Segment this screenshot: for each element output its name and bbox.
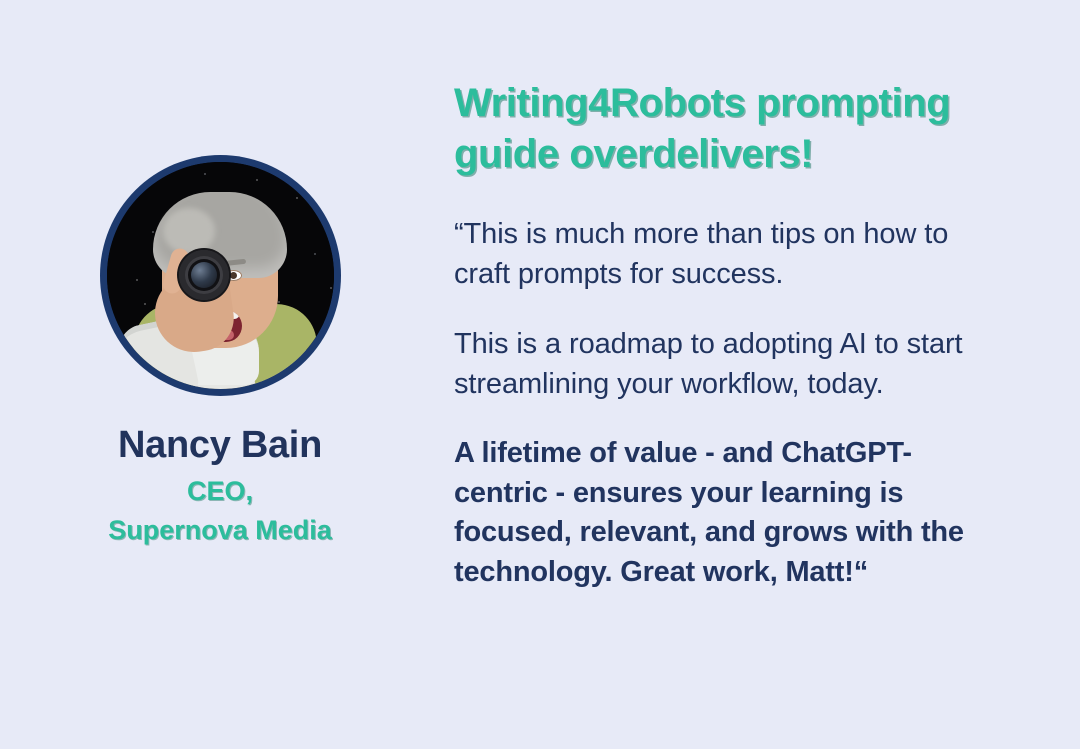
person-name: Nancy Bain — [118, 426, 322, 466]
quote-headline: Writing4Robots prompting guide overdeliv… — [454, 78, 1000, 180]
avatar-image — [107, 162, 334, 389]
camera-lens-icon — [179, 250, 229, 300]
avatar — [100, 155, 341, 396]
person-role: CEO, — [187, 472, 253, 511]
quote-paragraph-2: This is a roadmap to adopting AI to star… — [454, 324, 1000, 404]
quote-paragraph-1: “This is much more than tips on how to c… — [454, 214, 1000, 294]
person-company: Supernova Media — [108, 511, 332, 550]
quote-panel: Writing4Robots prompting guide overdeliv… — [440, 0, 1080, 592]
person-panel: Nancy Bain CEO, Supernova Media — [0, 0, 440, 550]
portrait-illustration — [107, 162, 334, 389]
testimonial-card: Nancy Bain CEO, Supernova Media Writing4… — [0, 0, 1080, 749]
quote-paragraph-3: A lifetime of value - and ChatGPT-centri… — [454, 434, 1000, 592]
